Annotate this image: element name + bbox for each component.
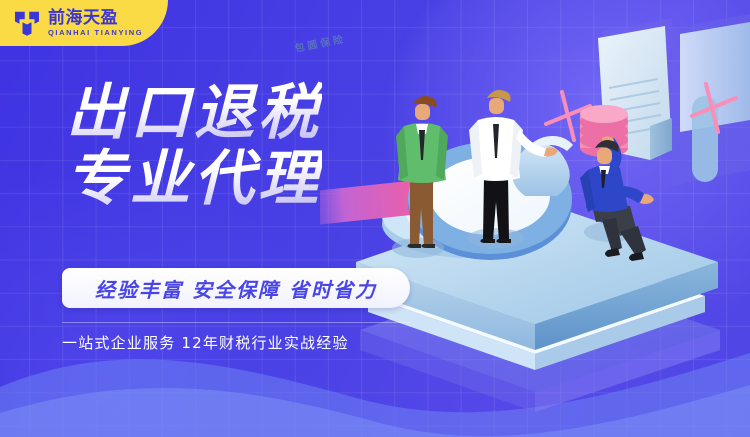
tagline-divider bbox=[62, 322, 410, 323]
headline-line-2: 专业代理 bbox=[66, 144, 322, 214]
brand-name-cn: 前海天盈 bbox=[48, 10, 143, 27]
promo-banner: 包圆保险 前海天盈 QIANHAI TIANYING 出口退税 专业代理 经验丰… bbox=[0, 0, 750, 437]
tagline-text: 一站式企业服务 12年财税行业实战经验 bbox=[62, 332, 349, 353]
shadow-person-2 bbox=[468, 228, 524, 248]
headline-block: 出口退税 专业代理 bbox=[66, 78, 322, 214]
hero-illustration bbox=[320, 0, 750, 437]
brand-name-en: QIANHAI TIANYING bbox=[48, 29, 143, 37]
headline-line-1: 出口退税 bbox=[66, 78, 322, 148]
qianhai-tianying-logo-mark bbox=[12, 8, 42, 38]
illustration-svg bbox=[320, 0, 750, 437]
brand-logo-text: 前海天盈 QIANHAI TIANYING bbox=[48, 10, 143, 37]
brand-logo-badge[interactable]: 前海天盈 QIANHAI TIANYING bbox=[0, 0, 168, 46]
benefits-pill: 经验丰富 安全保障 省时省力 bbox=[62, 268, 410, 308]
benefits-pill-text: 经验丰富 安全保障 省时省力 bbox=[95, 274, 377, 303]
